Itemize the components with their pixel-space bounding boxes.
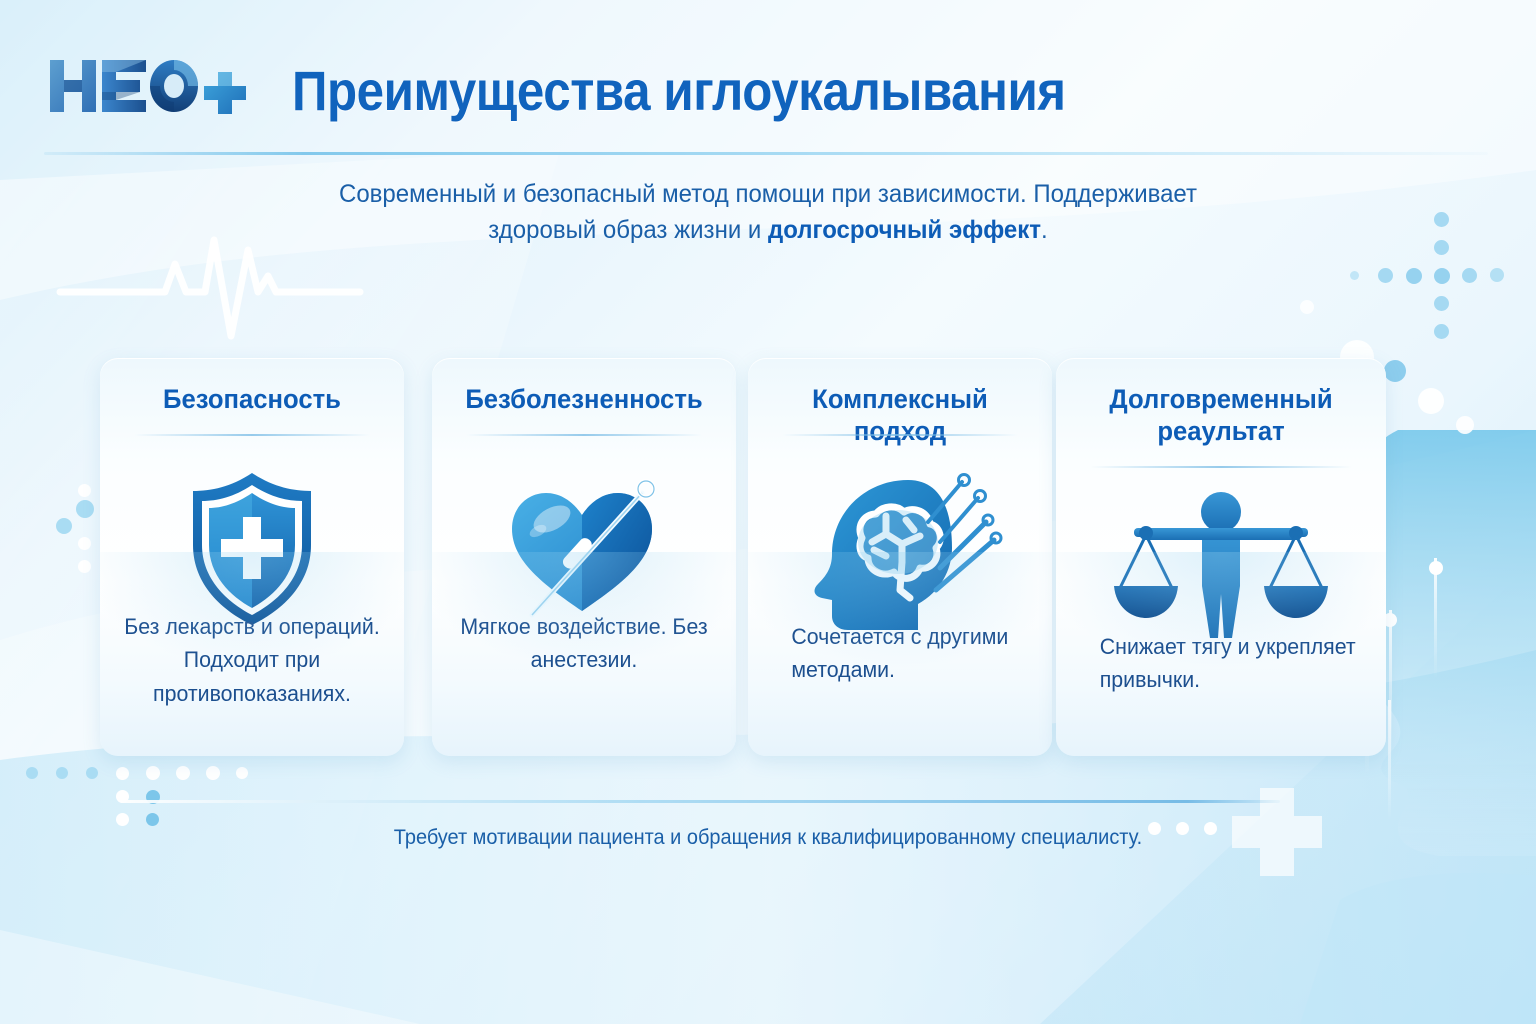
card-title: Безболезненность (440, 384, 729, 416)
card-text: Мягкое воздействие. Без анестезии. (450, 610, 718, 677)
page-header: Преимущества иглоукалывания (0, 0, 1536, 152)
benefit-card-safety[interactable]: Безопасность (100, 358, 404, 756)
benefit-card-long-term-result[interactable]: Долговременный реаультат (1056, 358, 1386, 756)
subtitle-emphasis: долгосрочный эффект (768, 216, 1041, 244)
card-title: Безопасность (108, 384, 397, 416)
card-text: Сочетается с другими методами. (766, 620, 1034, 687)
infographic-canvas: Преимущества иглоукалывания Современный … (0, 0, 1536, 1024)
footer-note: Требует мотивации пациента и обращения к… (38, 826, 1497, 850)
card-divider (782, 434, 1018, 436)
head-brain-needles-icon (748, 454, 1052, 644)
neo-plus-logo[interactable] (48, 52, 248, 118)
card-title: Комплексный подход (756, 384, 1045, 448)
subtitle-line-2-prefix: здоровый образ жизни и (488, 216, 768, 244)
subtitle: Современный и безопасный метод помощи пр… (288, 176, 1248, 249)
card-title: Долговременный реаультат (1064, 384, 1378, 448)
subtitle-line-2: здоровый образ жизни и долгосрочный эффе… (288, 212, 1248, 248)
header-divider (44, 152, 1488, 155)
benefit-cards: Безопасность (0, 358, 1536, 758)
benefit-card-painless[interactable]: Безболезненность (432, 358, 736, 756)
card-text: Без лекарств и операций. Подходит при пр… (118, 610, 386, 710)
subtitle-line-1: Современный и безопасный метод помощи пр… (288, 176, 1248, 212)
page-title: Преимущества иглоукалывания (292, 58, 1066, 123)
card-text: Снижает тягу и укрепляет привычки. (1075, 630, 1368, 697)
card-divider (466, 434, 702, 436)
card-divider (134, 434, 370, 436)
footer-divider (120, 800, 1280, 803)
benefit-card-complex-approach[interactable]: Комплексный подход (748, 358, 1052, 756)
ekg-pulse-line (60, 240, 360, 336)
subtitle-line-2-suffix: . (1041, 216, 1048, 244)
card-divider (1090, 466, 1352, 468)
